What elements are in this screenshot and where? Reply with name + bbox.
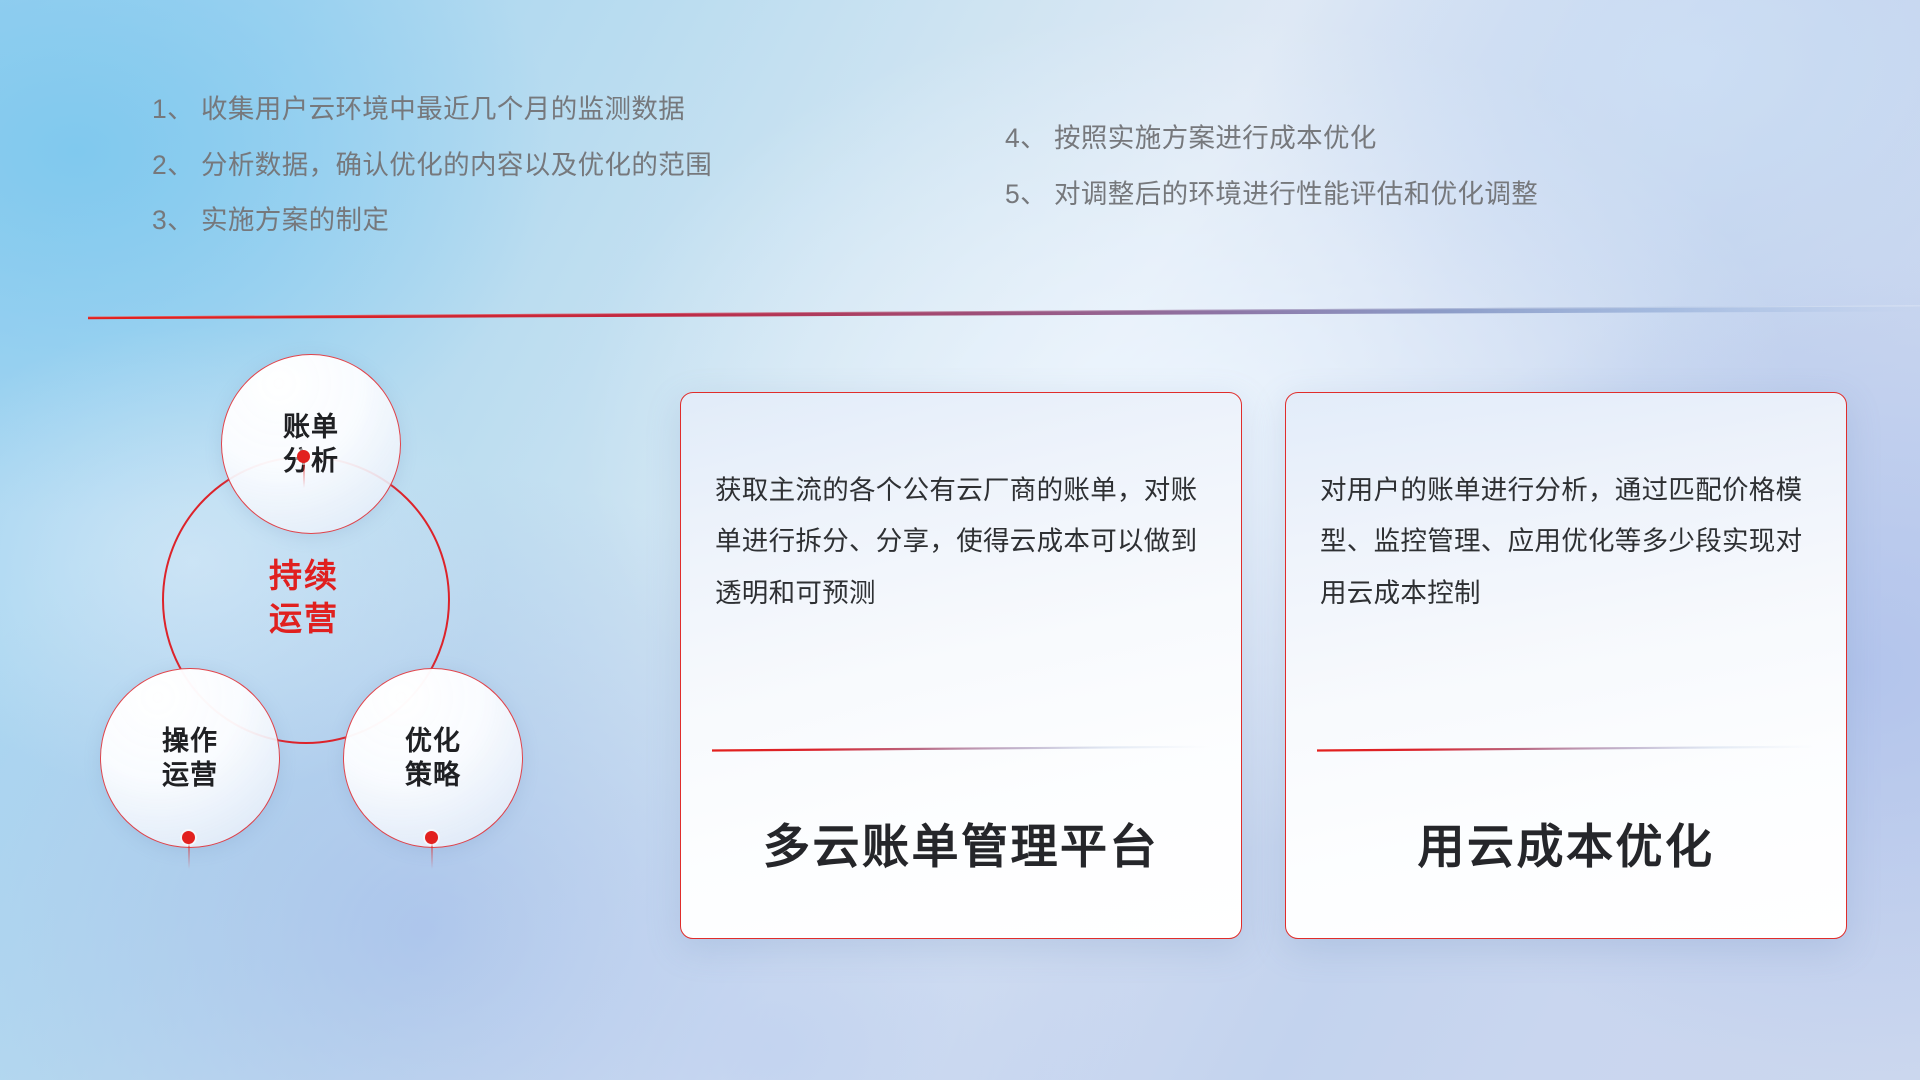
step-text: 对调整后的环境进行性能评估和优化调整 (1054, 181, 1538, 208)
step-number: 2、 (152, 152, 201, 179)
section-divider (0, 303, 1920, 321)
step-item: 3、 实施方案的制定 (152, 207, 712, 234)
venn-node-dot-right (425, 831, 438, 844)
card-body-text: 获取主流的各个公有云厂商的账单，对账单进行拆分、分享，使得云成本可以做到透明和可… (681, 465, 1241, 619)
venn-center-label: 持续 运营 (162, 456, 446, 740)
steps-left-column: 1、 收集用户云环境中最近几个月的监测数据 2、 分析数据，确认优化的内容以及优… (152, 96, 712, 263)
venn-node-label-line1: 账单 (283, 410, 339, 444)
venn-node-tail-top (303, 462, 305, 488)
step-text: 实施方案的制定 (201, 207, 389, 234)
step-item: 5、 对调整后的环境进行性能评估和优化调整 (1005, 181, 1538, 208)
card-body-text: 对用户的账单进行分析，通过匹配价格模型、监控管理、应用优化等多少段实现对用云成本… (1286, 465, 1846, 619)
venn-node-label-line2: 策略 (405, 758, 461, 792)
step-text: 分析数据，确认优化的内容以及优化的范围 (201, 152, 712, 179)
venn-node-label-line2: 运营 (162, 758, 218, 792)
step-item: 1、 收集用户云环境中最近几个月的监测数据 (152, 96, 712, 123)
venn-node-tail-right (431, 843, 433, 869)
venn-center-label-line2: 运营 (269, 598, 339, 641)
step-item: 2、 分析数据，确认优化的内容以及优化的范围 (152, 152, 712, 179)
step-text: 按照实施方案进行成本优化 (1054, 125, 1377, 152)
card-title: 用云成本优化 (1286, 808, 1846, 877)
step-number: 4、 (1005, 125, 1054, 152)
step-number: 1、 (152, 96, 201, 123)
card-cloud-cost-optimization[interactable]: 对用户的账单进行分析，通过匹配价格模型、监控管理、应用优化等多少段实现对用云成本… (1285, 392, 1847, 939)
venn-node-tail-left (188, 843, 190, 869)
venn-node-dot-left (182, 831, 195, 844)
card-title: 多云账单管理平台 (681, 808, 1241, 877)
step-text: 收集用户云环境中最近几个月的监测数据 (201, 96, 685, 123)
step-item: 4、 按照实施方案进行成本优化 (1005, 125, 1538, 152)
continuous-operation-diagram: 账单 分析 操作 运营 优化 策略 持续 运营 (100, 345, 600, 955)
card-divider (1317, 745, 1815, 752)
venn-center-label-line1: 持续 (269, 555, 339, 598)
card-divider (712, 745, 1210, 752)
steps-right-column: 4、 按照实施方案进行成本优化 5、 对调整后的环境进行性能评估和优化调整 (1005, 125, 1538, 236)
step-number: 3、 (152, 207, 201, 234)
card-multicloud-billing-platform[interactable]: 获取主流的各个公有云厂商的账单，对账单进行拆分、分享，使得云成本可以做到透明和可… (680, 392, 1242, 939)
step-number: 5、 (1005, 181, 1054, 208)
venn-node-dot-top (297, 450, 310, 463)
